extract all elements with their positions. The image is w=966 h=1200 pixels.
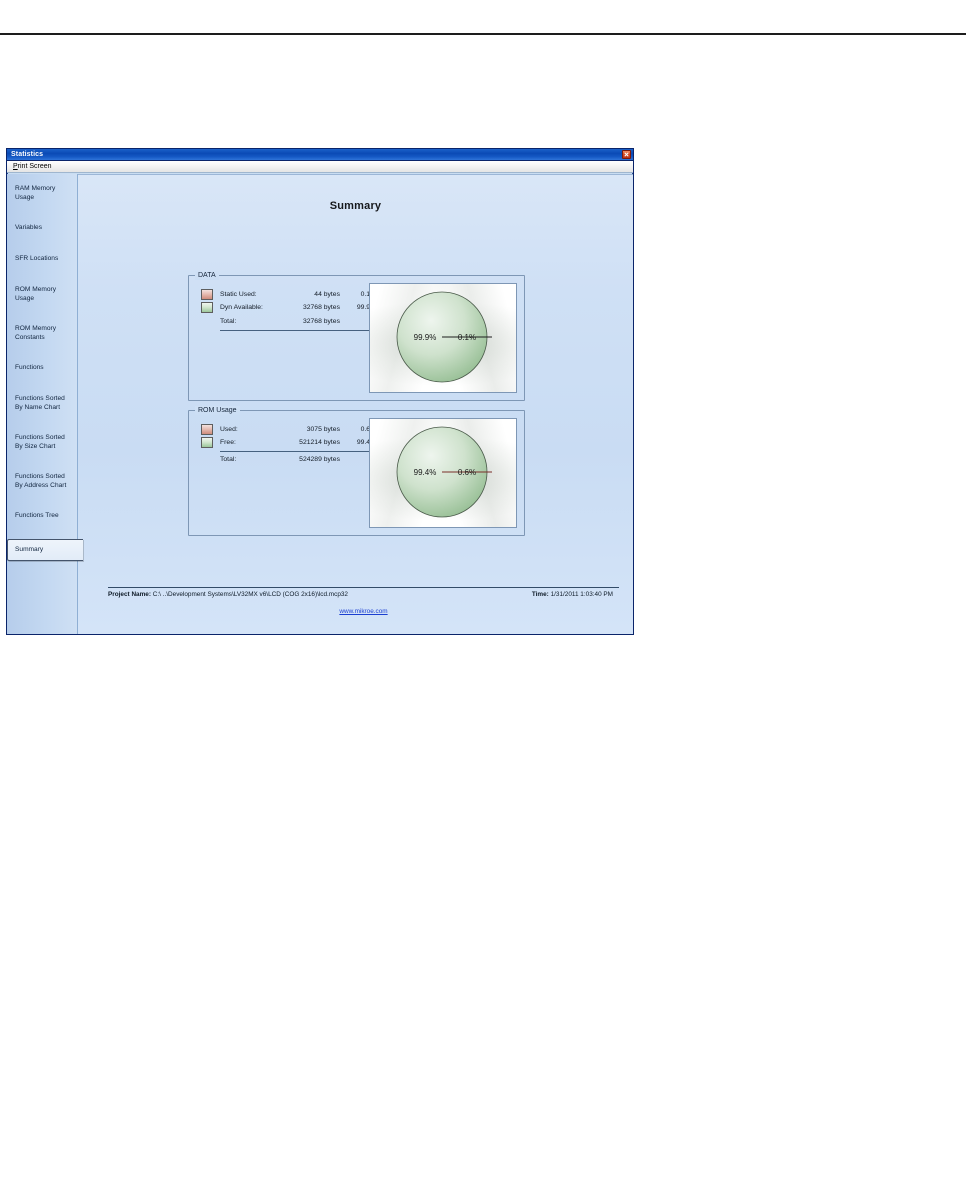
- legend-swatch-free-icon: [201, 437, 213, 448]
- sidebar: RAM Memory Usage Variables SFR Locations…: [7, 174, 78, 634]
- footer-project-path: C:\ ..\Development Systems\LV32MX v6\LCD…: [153, 591, 348, 598]
- rom-used-value: 3075 bytes: [278, 426, 344, 433]
- data-stats-table: Static Used: 44 bytes 0.1 % Dyn Availabl…: [201, 288, 381, 331]
- legend-swatch-static-used-icon: [201, 289, 213, 300]
- sidebar-item-functions-sorted-by-size-chart[interactable]: Functions Sorted By Size Chart: [7, 430, 77, 454]
- sidebar-item-rom-memory-constants[interactable]: ROM Memory Constants: [7, 321, 77, 345]
- footer-link-wrap: www.mikroe.com: [108, 600, 619, 618]
- page-top-rule: [0, 33, 966, 35]
- window-title: Statistics: [11, 149, 43, 160]
- group-data-label: DATA: [195, 271, 219, 280]
- data-pie-svg: 99.9% 0.1%: [370, 284, 516, 392]
- footer-project-caption: Project Name:: [108, 591, 151, 598]
- page-title: Summary: [78, 200, 633, 212]
- footer-time-caption: Time:: [532, 591, 549, 598]
- data-total-row: Total: 32768 bytes: [201, 314, 381, 328]
- rom-free-value: 521214 bytes: [278, 439, 344, 446]
- sidebar-item-functions-sorted-by-name-chart[interactable]: Functions Sorted By Name Chart: [7, 391, 77, 415]
- group-rom-usage: ROM Usage Used: 3075 bytes 0.6 % Free: 5…: [188, 410, 525, 536]
- legend-swatch-placeholder-icon: [201, 316, 213, 327]
- footer-time: Time: 1/31/2011 1:03:40 PM: [532, 591, 619, 598]
- document-page: Statistics Print Screen RAM Memory Usage…: [0, 0, 966, 1200]
- data-total-value: 32768 bytes: [278, 318, 344, 325]
- data-pie-label-minor: 0.1%: [458, 333, 476, 342]
- footer-rule: [108, 587, 619, 588]
- footer-row: Project Name: C:\ ..\Development Systems…: [108, 591, 619, 598]
- table-row: Static Used: 44 bytes 0.1 %: [201, 288, 381, 301]
- window-titlebar: Statistics: [7, 149, 633, 161]
- rom-pie-label-major: 99.4%: [414, 468, 437, 477]
- menu-item-print-screen[interactable]: Print Screen: [13, 161, 52, 172]
- rom-pie-svg: 99.4% 0.6%: [370, 419, 516, 527]
- sidebar-item-sfr-locations[interactable]: SFR Locations: [7, 251, 77, 267]
- data-static-used-label: Static Used:: [220, 291, 278, 298]
- data-dyn-available-value: 32768 bytes: [278, 304, 344, 311]
- data-dyn-available-label: Dyn Available:: [220, 304, 278, 311]
- footer: Project Name: C:\ ..\Development Systems…: [108, 587, 619, 618]
- table-row: Free: 521214 bytes 99.4 %: [201, 436, 381, 449]
- sidebar-item-ram-memory-usage[interactable]: RAM Memory Usage: [7, 181, 77, 205]
- rom-total-value: 524289 bytes: [278, 456, 344, 463]
- footer-project: Project Name: C:\ ..\Development Systems…: [108, 591, 348, 598]
- legend-swatch-dyn-available-icon: [201, 302, 213, 313]
- statistics-window: Statistics Print Screen RAM Memory Usage…: [6, 148, 634, 635]
- data-pie-chart: 99.9% 0.1%: [369, 283, 517, 393]
- footer-time-value: 1/31/2011 1:03:40 PM: [551, 591, 613, 598]
- rom-used-label: Used:: [220, 426, 278, 433]
- content-pane: Summary DATA Static Used: 44 bytes 0.1 %: [78, 174, 633, 634]
- mikroe-link[interactable]: www.mikroe.com: [339, 608, 387, 615]
- rom-pie-label-minor: 0.6%: [458, 468, 476, 477]
- window-body: RAM Memory Usage Variables SFR Locations…: [7, 174, 633, 634]
- close-icon[interactable]: [622, 150, 631, 159]
- rom-pie-chart: 99.4% 0.6%: [369, 418, 517, 528]
- table-row: Used: 3075 bytes 0.6 %: [201, 423, 381, 436]
- sidebar-item-variables[interactable]: Variables: [7, 220, 77, 236]
- group-data: DATA Static Used: 44 bytes 0.1 % Dyn Ava…: [188, 275, 525, 401]
- window-menubar: Print Screen: [7, 161, 633, 173]
- sidebar-item-functions-sorted-by-address-chart[interactable]: Functions Sorted By Address Chart: [7, 469, 77, 493]
- sidebar-item-functions[interactable]: Functions: [7, 360, 77, 376]
- rom-stats-table: Used: 3075 bytes 0.6 % Free: 521214 byte…: [201, 423, 381, 466]
- group-rom-usage-label: ROM Usage: [195, 406, 240, 415]
- menu-item-print-screen-label: rint Screen: [18, 163, 52, 170]
- sidebar-item-functions-tree[interactable]: Functions Tree: [7, 508, 77, 524]
- table-row: Dyn Available: 32768 bytes 99.9 %: [201, 301, 381, 314]
- legend-swatch-placeholder-icon: [201, 454, 213, 465]
- sidebar-item-summary[interactable]: Summary: [7, 539, 83, 561]
- data-pie-label-major: 99.9%: [414, 333, 437, 342]
- rom-free-label: Free:: [220, 439, 278, 446]
- rom-total-label: Total:: [220, 456, 278, 463]
- data-static-used-value: 44 bytes: [278, 291, 344, 298]
- sidebar-item-rom-memory-usage[interactable]: ROM Memory Usage: [7, 282, 77, 306]
- data-total-label: Total:: [220, 318, 278, 325]
- legend-swatch-used-icon: [201, 424, 213, 435]
- rom-total-row: Total: 524289 bytes: [201, 452, 381, 466]
- data-total-rule: [220, 330, 370, 331]
